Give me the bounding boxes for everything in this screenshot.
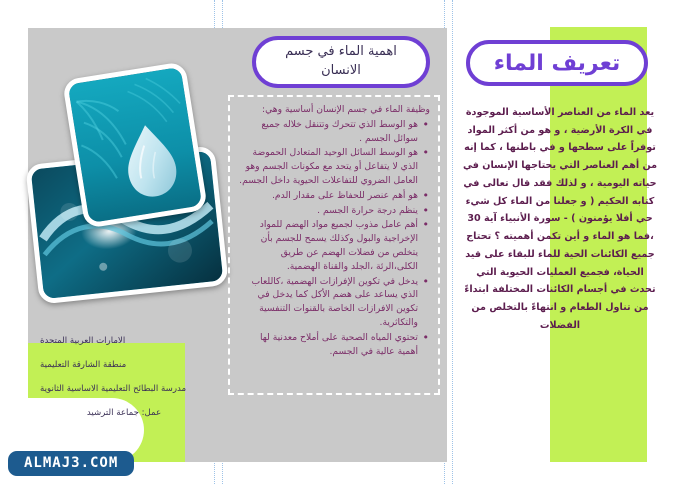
org-line-country: الامارات العربية المتحدة	[40, 336, 208, 347]
middle-panel-heading-pill: اهمية الماء في جسم الانسان	[252, 36, 430, 88]
brochure-page: الامارات العربية المتحدة منطقة الشارقة ا…	[0, 0, 680, 484]
list-item: ينظم درجة حرارة الجسم .	[238, 204, 418, 218]
site-watermark: ALMAJ3.COM	[8, 451, 134, 476]
list-item: هو أهم عنصر للحفاظ على مقدار الدم.	[238, 189, 418, 203]
middle-panel-bullet-list: هو الوسط الذي تتحرك وتتنقل خلاله جميع سو…	[238, 118, 430, 359]
middle-panel-lead-text: وظيفة الماء في جسم الإنسان أساسية وهي:	[238, 103, 430, 117]
list-item: هو الوسط السائل الوحيد المتعادل الحموضة …	[238, 146, 418, 187]
organization-lines: الامارات العربية المتحدة منطقة الشارقة ا…	[40, 336, 208, 409]
list-item: تحتوي المياه الصحية على أملاح معدنية لها…	[238, 331, 418, 359]
list-item: أهم عامل مذوب لجميع مواد الهضم للمواد ال…	[238, 218, 418, 273]
water-drop-graphic	[68, 67, 202, 223]
water-drop-illustration	[62, 61, 208, 229]
org-line-zone: منطقة الشارقة التعليمية	[40, 360, 208, 371]
org-line-school: مدرسة البطائح التعليمية الاساسية الثانوي…	[40, 384, 208, 395]
right-panel-heading-pill: تعريف الماء	[466, 40, 648, 86]
right-panel-body-text: يعد الماء من العناصر الأساسية الموجودة ف…	[462, 104, 658, 335]
middle-panel-body: وظيفة الماء في جسم الإنسان أساسية وهي: ه…	[228, 95, 440, 395]
list-item: يدخل في تكوين الإفرازات الهضمية ،كاللعاب…	[238, 275, 418, 330]
middle-panel-heading-text: اهمية الماء في جسم الانسان	[266, 43, 416, 81]
fold-guide-line	[452, 0, 453, 484]
list-item: هو الوسط الذي تتحرك وتتنقل خلاله جميع سو…	[238, 118, 418, 146]
right-panel-heading-text: تعريف الماء	[494, 51, 621, 76]
credit-line: عمل: جماعة الترشيد	[40, 408, 208, 418]
